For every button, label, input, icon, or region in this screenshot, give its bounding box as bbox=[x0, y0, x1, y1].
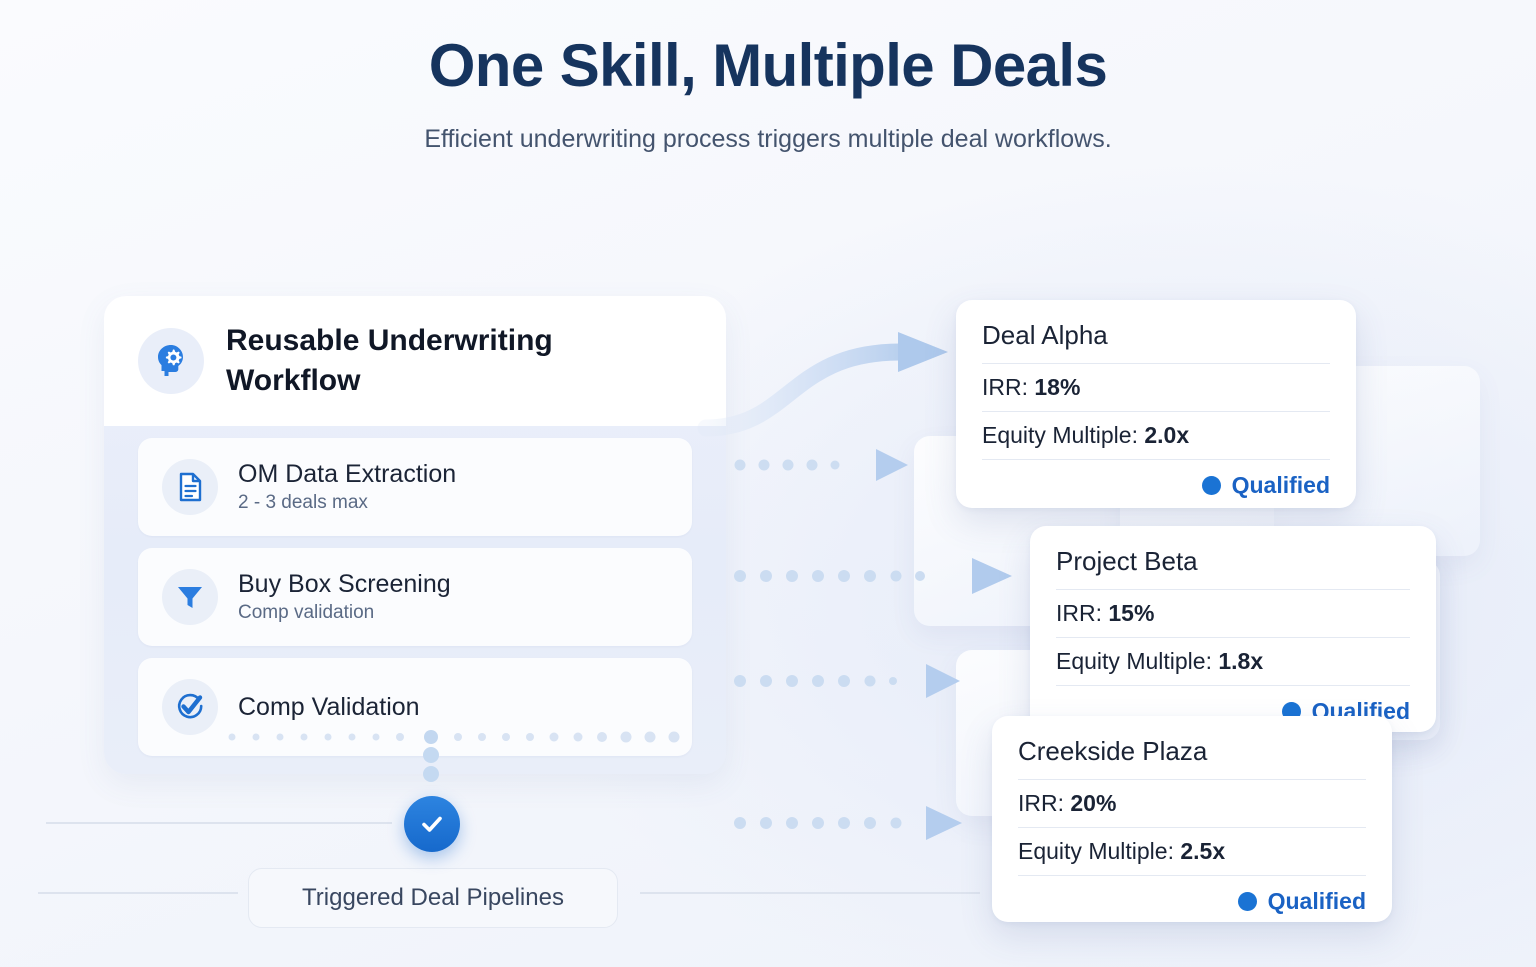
multiple-value: 1.8x bbox=[1218, 648, 1263, 674]
irr-label: IRR: bbox=[1056, 600, 1102, 626]
arrow-head-icon bbox=[926, 664, 960, 698]
arrow-head-icon bbox=[926, 806, 962, 840]
dotted-connector-4 bbox=[734, 817, 902, 829]
funnel-icon bbox=[162, 569, 218, 625]
workflow-step-buy-box-screening[interactable]: Buy Box Screening Comp validation bbox=[138, 548, 692, 646]
deal-irr-row: IRR: 20% bbox=[1018, 779, 1366, 827]
deal-multiple-row: Equity Multiple: 1.8x bbox=[1056, 637, 1410, 685]
step-title: Comp Validation bbox=[238, 693, 420, 722]
page-subtitle: Efficient underwriting process triggers … bbox=[0, 125, 1536, 154]
deal-status: Qualified bbox=[1018, 875, 1366, 915]
irr-value: 18% bbox=[1034, 374, 1080, 400]
step-subtitle: 2 - 3 deals max bbox=[238, 492, 456, 514]
multiple-label: Equity Multiple: bbox=[982, 422, 1138, 448]
brain-gear-icon bbox=[138, 328, 204, 394]
multiple-value: 2.5x bbox=[1180, 838, 1225, 864]
status-badge: Qualified bbox=[1232, 472, 1330, 499]
multiple-value: 2.0x bbox=[1144, 422, 1189, 448]
step-subtitle: Comp validation bbox=[238, 602, 451, 624]
deal-irr-row: IRR: 18% bbox=[982, 363, 1330, 411]
document-icon bbox=[162, 459, 218, 515]
irr-value: 15% bbox=[1108, 600, 1154, 626]
irr-label: IRR: bbox=[982, 374, 1028, 400]
workflow-step-comp-validation[interactable]: Comp Validation bbox=[138, 658, 692, 756]
dotted-connector-3 bbox=[734, 675, 897, 687]
deal-irr-row: IRR: 15% bbox=[1056, 589, 1410, 637]
multiple-label: Equity Multiple: bbox=[1056, 648, 1212, 674]
page-title: One Skill, Multiple Deals bbox=[0, 34, 1536, 99]
page-header: One Skill, Multiple Deals Efficient unde… bbox=[0, 34, 1536, 154]
deal-card[interactable]: Project Beta IRR: 15% Equity Multiple: 1… bbox=[1030, 526, 1436, 732]
deal-name: Project Beta bbox=[1056, 546, 1410, 589]
workflow-panel: Reusable Underwriting Workflow OM Data E… bbox=[104, 296, 726, 774]
arrow-head-icon bbox=[876, 449, 908, 481]
deal-multiple-row: Equity Multiple: 2.0x bbox=[982, 411, 1330, 459]
arrow-head-icon bbox=[898, 332, 948, 372]
deal-name: Deal Alpha bbox=[982, 320, 1330, 363]
check-circle-icon bbox=[162, 679, 218, 735]
status-badge: Qualified bbox=[1268, 888, 1366, 915]
deal-status: Qualified bbox=[982, 459, 1330, 499]
pill-label: Triggered Deal Pipelines bbox=[302, 884, 564, 912]
deal-multiple-row: Equity Multiple: 2.5x bbox=[1018, 827, 1366, 875]
workflow-step-om-data-extraction[interactable]: OM Data Extraction 2 - 3 deals max bbox=[138, 438, 692, 536]
step-title: OM Data Extraction bbox=[238, 460, 456, 489]
deal-card[interactable]: Creekside Plaza IRR: 20% Equity Multiple… bbox=[992, 716, 1392, 922]
irr-label: IRR: bbox=[1018, 790, 1064, 816]
irr-value: 20% bbox=[1070, 790, 1116, 816]
workflow-panel-header: Reusable Underwriting Workflow bbox=[104, 296, 726, 426]
step-title: Buy Box Screening bbox=[238, 570, 451, 599]
multiple-label: Equity Multiple: bbox=[1018, 838, 1174, 864]
triggered-deal-pipelines-pill: Triggered Deal Pipelines bbox=[248, 868, 618, 928]
dotted-connector-1 bbox=[735, 460, 840, 471]
curved-connector bbox=[706, 352, 900, 428]
deal-name: Creekside Plaza bbox=[1018, 736, 1366, 779]
workflow-panel-title: Reusable Underwriting Workflow bbox=[226, 321, 626, 400]
deal-card[interactable]: Deal Alpha IRR: 18% Equity Multiple: 2.0… bbox=[956, 300, 1356, 508]
status-dot-icon bbox=[1202, 476, 1221, 495]
status-dot-icon bbox=[1238, 892, 1257, 911]
check-icon bbox=[404, 796, 460, 852]
dotted-connector-2 bbox=[734, 570, 925, 582]
